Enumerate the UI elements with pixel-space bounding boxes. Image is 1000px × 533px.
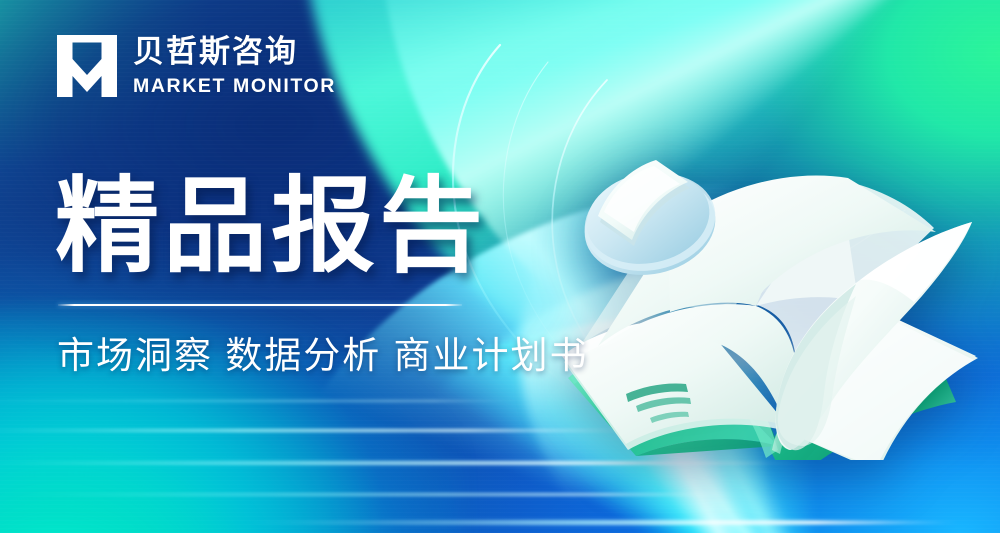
brand-text: 贝哲斯咨询 MARKET MONITOR (133, 34, 336, 98)
banner-content: 贝哲斯咨询 MARKET MONITOR 精品报告 市场洞察 数据分析 商业计划… (0, 0, 1000, 533)
subtitle: 市场洞察 数据分析 商业计划书 (57, 332, 589, 380)
market-monitor-m-logo-icon (57, 35, 117, 97)
brand-name-en: MARKET MONITOR (133, 74, 336, 98)
brand-logo: 贝哲斯咨询 MARKET MONITOR (57, 34, 336, 98)
page-title: 精品报告 (55, 172, 487, 282)
open-book-illustration (540, 150, 980, 460)
brand-name-cn: 贝哲斯咨询 (133, 34, 336, 71)
promo-banner: 贝哲斯咨询 MARKET MONITOR 精品报告 市场洞察 数据分析 商业计划… (0, 0, 1000, 533)
title-divider (58, 304, 462, 306)
